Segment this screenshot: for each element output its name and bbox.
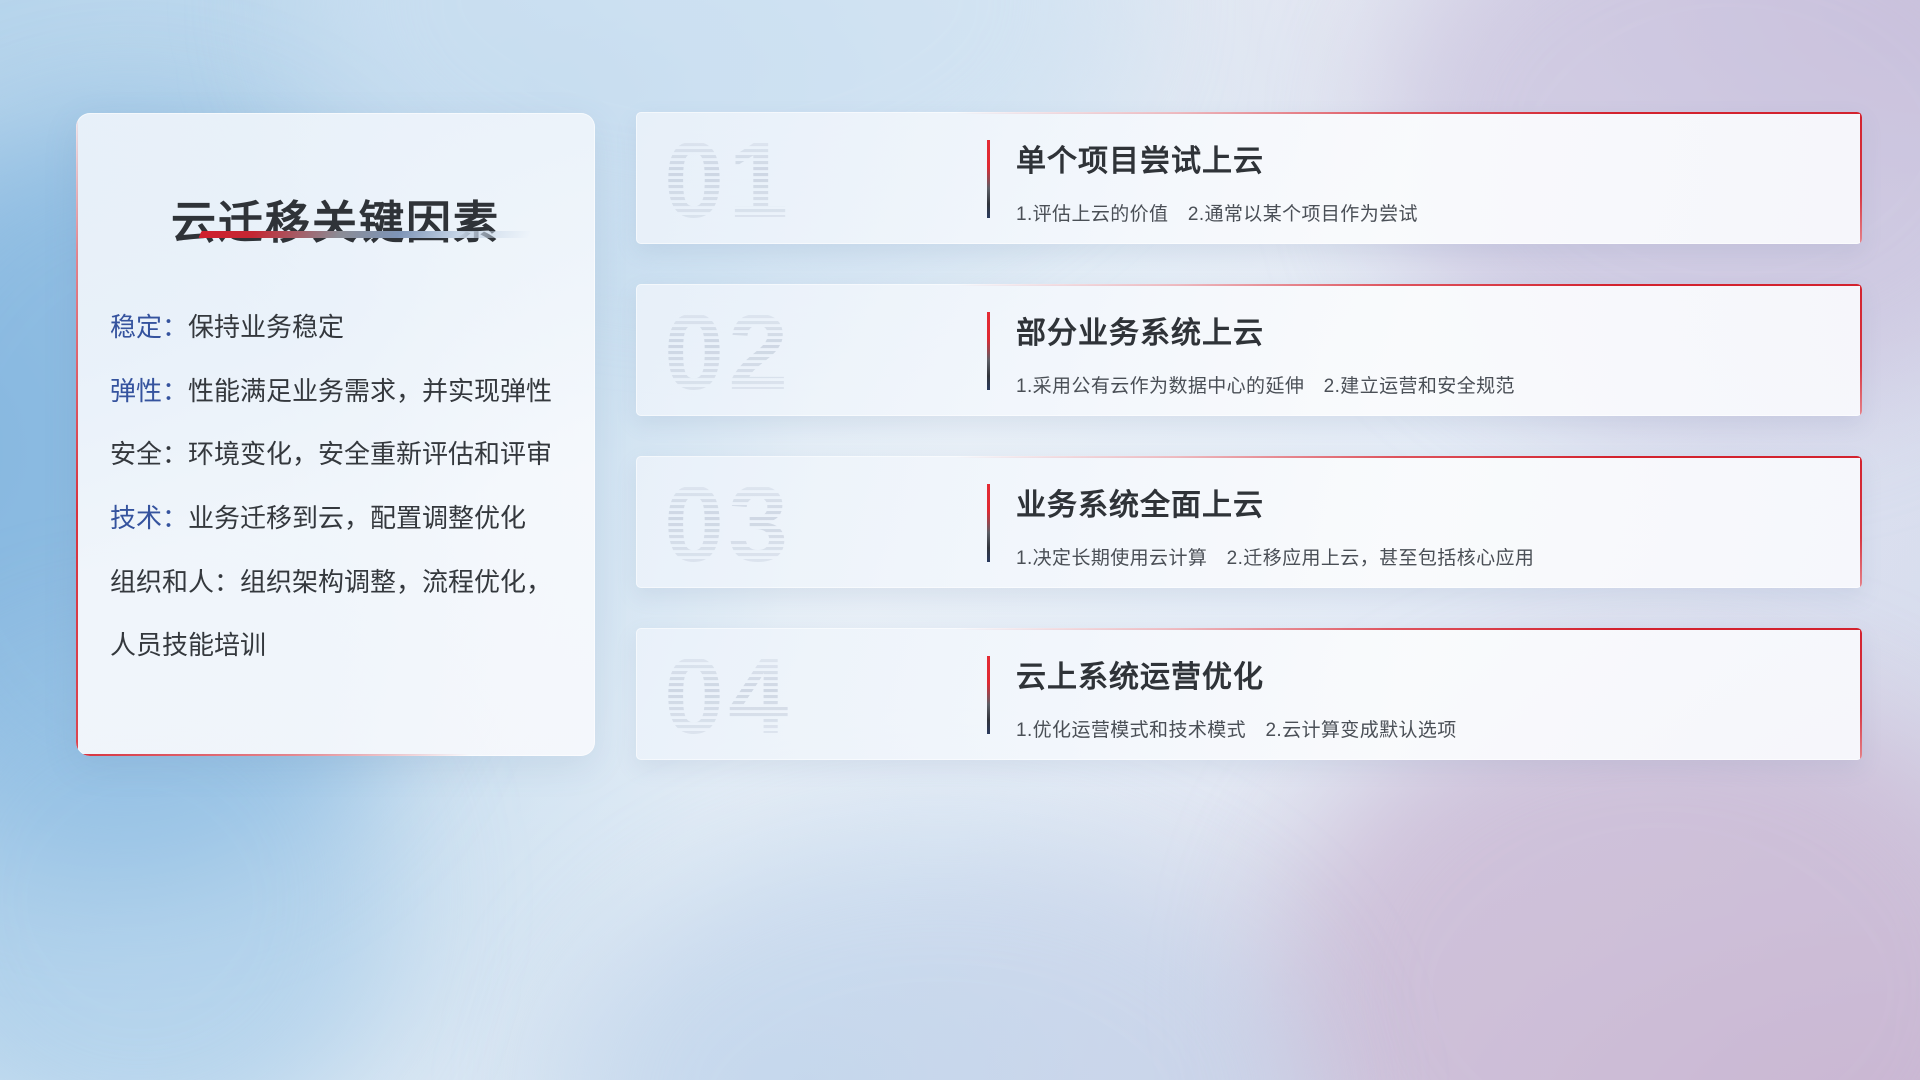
card-subtext: 1.采用公有云作为数据中心的延伸 2.建立运营和安全规范 — [1016, 371, 1836, 398]
stage-card-04[interactable]: 04 云上系统运营优化 1.优化运营模式和技术模式 2.云计算变成默认选项 — [636, 628, 1862, 760]
title-underline-accent — [198, 231, 531, 238]
factor-list: 稳定：保持业务稳定 弹性：性能满足业务需求，并实现弹性 安全：环境变化，安全重新… — [110, 309, 573, 691]
factor-item-security: 安全：环境变化，安全重新评估和评审 — [110, 436, 573, 474]
stage-card-02[interactable]: 02 部分业务系统上云 1.采用公有云作为数据中心的延伸 2.建立运营和安全规范 — [636, 284, 1862, 416]
factor-text: 组织架构调整，流程优化， — [240, 567, 552, 597]
factor-label: 技术： — [110, 503, 188, 533]
card-subtext: 1.评估上云的价值 2.通常以某个项目作为尝试 — [1016, 199, 1836, 226]
svg-text:01: 01 — [664, 125, 792, 231]
card-body: 单个项目尝试上云 1.评估上云的价值 2.通常以某个项目作为尝试 — [1016, 136, 1836, 244]
factor-item-organization: 组织和人：组织架构调整，流程优化， — [110, 564, 573, 602]
card-body: 云上系统运营优化 1.优化运营模式和技术模式 2.云计算变成默认选项 — [1016, 652, 1836, 760]
card-heading: 云上系统运营优化 — [1016, 652, 1836, 696]
factor-item-technology: 技术：业务迁移到云，配置调整优化 — [110, 500, 573, 538]
factor-item-organization-line2: 人员技能培训 — [110, 627, 573, 665]
factor-text: 性能满足业务需求，并实现弹性 — [188, 376, 552, 406]
card-subtext: 1.决定长期使用云计算 2.迁移应用上云，甚至包括核心应用 — [1016, 543, 1836, 570]
svg-text:04: 04 — [664, 641, 792, 747]
card-heading: 业务系统全面上云 — [1016, 480, 1836, 524]
ghost-number-03-icon: 03 — [658, 469, 868, 575]
key-factors-panel: 云迁移关键因素 稳定：保持业务稳定 弹性：性能满足业务需求，并实现弹性 安全：环… — [76, 113, 595, 756]
factor-text: 环境变化，安全重新评估和评审 — [188, 439, 552, 469]
card-accent-divider — [987, 656, 990, 734]
factor-text: 业务迁移到云，配置调整优化 — [188, 503, 526, 533]
ghost-number-04-icon: 04 — [658, 641, 868, 747]
panel-title: 云迁移关键因素 — [76, 186, 595, 251]
card-body: 部分业务系统上云 1.采用公有云作为数据中心的延伸 2.建立运营和安全规范 — [1016, 308, 1836, 416]
factor-label: 组织和人： — [110, 567, 240, 597]
slide-canvas: 云迁移关键因素 稳定：保持业务稳定 弹性：性能满足业务需求，并实现弹性 安全：环… — [0, 0, 1920, 1080]
factor-label: 稳定： — [110, 312, 188, 342]
factor-text: 人员技能培训 — [110, 630, 266, 660]
card-subtext: 1.优化运营模式和技术模式 2.云计算变成默认选项 — [1016, 715, 1836, 742]
card-heading: 单个项目尝试上云 — [1016, 136, 1836, 180]
card-accent-divider — [987, 312, 990, 390]
card-heading: 部分业务系统上云 — [1016, 308, 1836, 352]
stage-card-01[interactable]: 01 单个项目尝试上云 1.评估上云的价值 2.通常以某个项目作为尝试 — [636, 112, 1862, 244]
factor-label: 弹性： — [110, 376, 188, 406]
card-accent-divider — [987, 140, 990, 218]
svg-text:02: 02 — [664, 297, 792, 403]
stage-card-list: 01 单个项目尝试上云 1.评估上云的价值 2.通常以某个项目作为尝试 — [636, 112, 1862, 800]
svg-text:03: 03 — [664, 469, 792, 575]
card-accent-divider — [987, 484, 990, 562]
factor-item-elasticity: 弹性：性能满足业务需求，并实现弹性 — [110, 373, 573, 411]
background-blob — [560, 840, 1320, 1080]
factor-label: 安全： — [110, 439, 188, 469]
factor-item-stability: 稳定：保持业务稳定 — [110, 309, 573, 347]
ghost-number-02-icon: 02 — [658, 297, 868, 403]
factor-text: 保持业务稳定 — [188, 312, 344, 342]
stage-card-03[interactable]: 03 业务系统全面上云 1.决定长期使用云计算 2.迁移应用上云，甚至包括核心应… — [636, 456, 1862, 588]
card-body: 业务系统全面上云 1.决定长期使用云计算 2.迁移应用上云，甚至包括核心应用 — [1016, 480, 1836, 588]
ghost-number-01-icon: 01 — [658, 125, 868, 231]
